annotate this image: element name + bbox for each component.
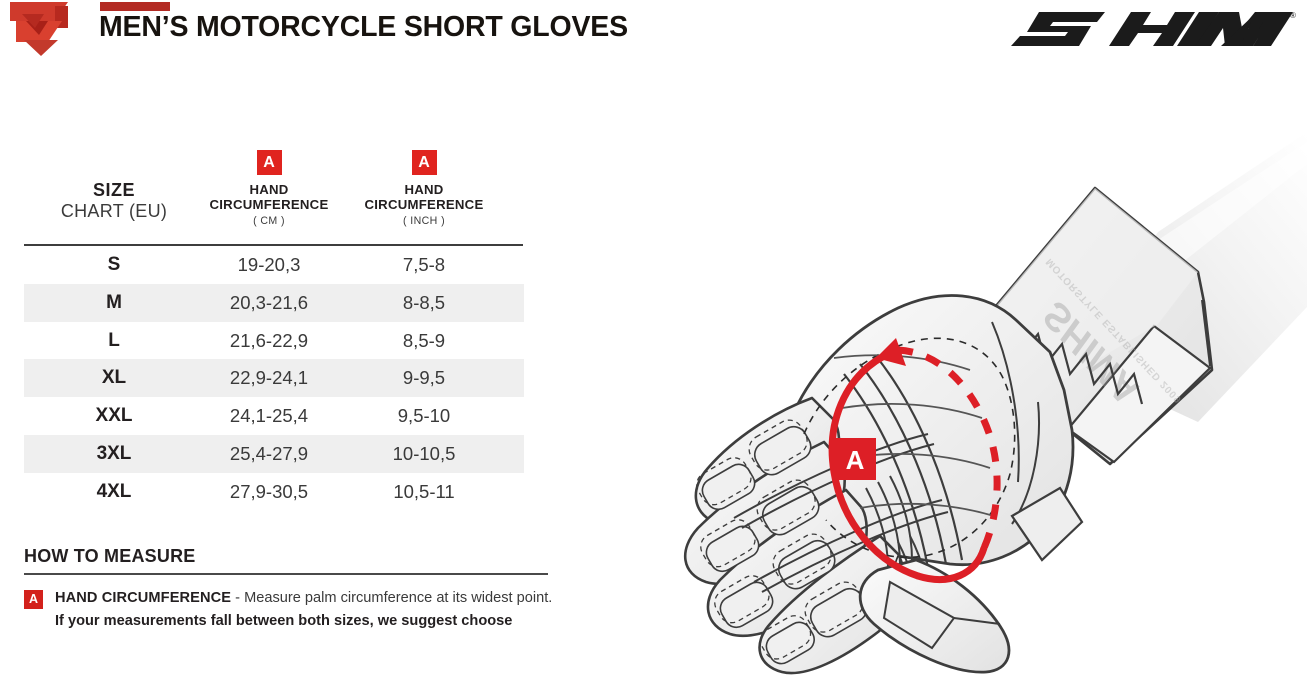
measure-item-label: HAND CIRCUMFERENCE <box>55 590 231 606</box>
table-row: 3XL 25,4-27,9 10-10,5 <box>24 435 524 473</box>
cell-inch: 10,5-11 <box>334 473 514 511</box>
cell-size: M <box>24 284 204 322</box>
measure-badge-label: A <box>846 445 865 475</box>
table-body: S 19-20,3 7,5-8 M 20,3-21,6 8-8,5 L 21,6… <box>24 246 524 511</box>
column-header-cm-line1: HAND <box>179 183 359 198</box>
table-row: S 19-20,3 7,5-8 <box>24 246 524 284</box>
table-row: XXL 24,1-25,4 9,5-10 <box>24 397 524 435</box>
cell-size: 4XL <box>24 473 204 511</box>
shima-brand-wordmark: ® <box>1009 6 1299 52</box>
column-header-inch-unit: ( INCH ) <box>334 216 514 228</box>
cell-inch: 8-8,5 <box>334 284 514 322</box>
cell-inch: 9-9,5 <box>334 359 514 397</box>
cell-size: XL <box>24 359 204 397</box>
cell-cm: 25,4-27,9 <box>179 435 359 473</box>
cell-cm: 21,6-22,9 <box>179 322 359 360</box>
table-row: L 21,6-22,9 8,5-9 <box>24 322 524 360</box>
badge-a-cm: A <box>257 150 282 175</box>
how-to-measure-item: A HAND CIRCUMFERENCE - Measure palm circ… <box>24 588 554 632</box>
table-row: 4XL 27,9-30,5 10,5-11 <box>24 473 524 511</box>
cell-inch: 9,5-10 <box>334 397 514 435</box>
column-header-cm-line2: CIRCUMFERENCE <box>179 198 359 213</box>
cell-size: 3XL <box>24 435 204 473</box>
badge-a-icon-measure: A <box>24 590 43 609</box>
table-row: XL 22,9-24,1 9-9,5 <box>24 359 524 397</box>
column-header-inch-line1: HAND <box>334 183 514 198</box>
column-header-size-line2: CHART (EU) <box>24 201 204 221</box>
cell-cm: 27,9-30,5 <box>179 473 359 511</box>
cell-size: S <box>24 246 204 284</box>
title-accent-bar <box>100 2 170 11</box>
cell-cm: 19-20,3 <box>179 246 359 284</box>
column-header-cm-unit: ( CM ) <box>179 216 359 228</box>
measure-item-text: - Measure palm circumference at its wide… <box>231 590 552 606</box>
how-to-measure-section: HOW TO MEASURE A HAND CIRCUMFERENCE - Me… <box>24 546 554 632</box>
measure-note: If your measurements fall between both s… <box>55 611 554 632</box>
column-header-hand-circumference-cm: HAND A HAND CIRCUMFERENCE ( CM ) <box>179 150 359 227</box>
motorcycle-glove-illustration: SHIMA MOTORSTYLE ESTABLISHED 2009 <box>598 112 1307 679</box>
shima-arrow-logo-icon <box>8 0 70 56</box>
how-to-measure-divider <box>24 573 548 575</box>
column-header-inch-line2: CIRCUMFERENCE <box>334 198 514 213</box>
cell-inch: 7,5-8 <box>334 246 514 284</box>
table-header-row: SIZE CHART (EU) HAND A HAND CIRCUMFERENC… <box>24 136 524 244</box>
cell-cm: 20,3-21,6 <box>179 284 359 322</box>
column-header-size-line1: SIZE <box>24 180 204 200</box>
cell-cm: 22,9-24,1 <box>179 359 359 397</box>
cell-inch: 8,5-9 <box>334 322 514 360</box>
badge-a-inch: A <box>412 150 437 175</box>
how-to-measure-title: HOW TO MEASURE <box>24 546 554 567</box>
cell-size: XXL <box>24 397 204 435</box>
cell-size: L <box>24 322 204 360</box>
table-row: M 20,3-21,6 8-8,5 <box>24 284 524 322</box>
column-header-size: SIZE CHART (EU) <box>24 180 204 221</box>
cell-inch: 10-10,5 <box>334 435 514 473</box>
page-title: MEN’S MOTORCYCLE SHORT GLOVES <box>99 11 628 44</box>
column-header-hand-circumference-inch: HAND A HAND CIRCUMFERENCE ( INCH ) <box>334 150 514 227</box>
size-chart-table: SIZE CHART (EU) HAND A HAND CIRCUMFERENC… <box>24 136 524 511</box>
cell-cm: 24,1-25,4 <box>179 397 359 435</box>
registered-trademark-symbol: ® <box>1290 11 1296 20</box>
size-chart-page: MEN’S MOTORCYCLE SHORT GLOVES ® SIZE <box>0 0 1307 679</box>
